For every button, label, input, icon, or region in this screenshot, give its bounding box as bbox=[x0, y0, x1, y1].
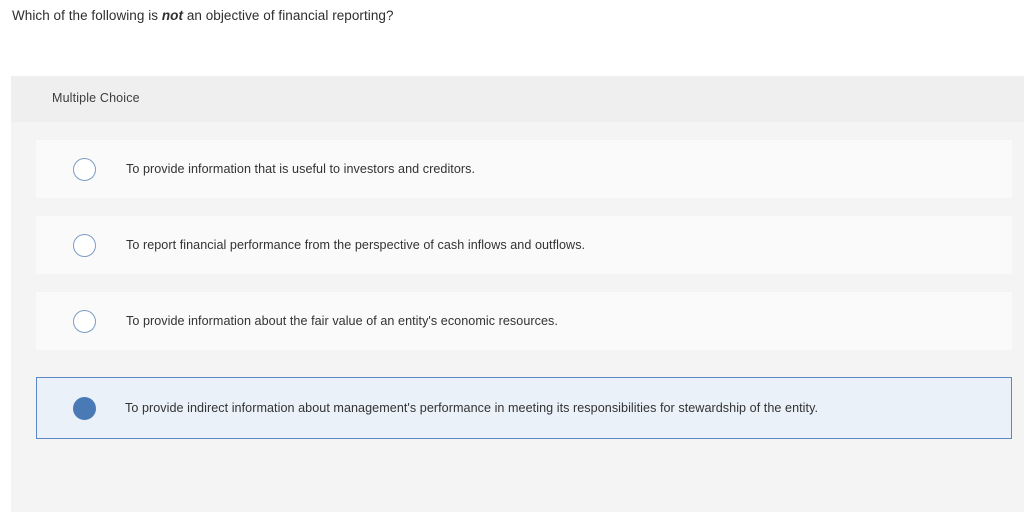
question-text-before: Which of the following is bbox=[12, 8, 162, 23]
answer-option-label-2: To report financial performance from the… bbox=[126, 236, 585, 254]
answer-option-label-4: To provide indirect information about ma… bbox=[125, 399, 818, 417]
question-type-label: Multiple Choice bbox=[52, 91, 140, 105]
answer-option-1[interactable]: To provide information that is useful to… bbox=[36, 140, 1012, 198]
question-emphasis-not: not bbox=[162, 8, 183, 23]
question-stem: Which of the following is not an objecti… bbox=[12, 6, 394, 26]
radio-button-icon-4-selected[interactable] bbox=[73, 397, 96, 420]
answer-option-label-3: To provide information about the fair va… bbox=[126, 312, 558, 330]
answer-options-list: To provide information that is useful to… bbox=[11, 122, 1024, 439]
radio-button-icon-2[interactable] bbox=[73, 234, 96, 257]
radio-button-icon-1[interactable] bbox=[73, 158, 96, 181]
radio-button-icon-3[interactable] bbox=[73, 310, 96, 333]
answer-option-2[interactable]: To report financial performance from the… bbox=[36, 216, 1012, 274]
question-text-after: an objective of financial reporting? bbox=[183, 8, 393, 23]
answer-option-4[interactable]: To provide indirect information about ma… bbox=[36, 377, 1012, 439]
question-card: Multiple Choice To provide information t… bbox=[11, 76, 1024, 512]
answer-option-label-1: To provide information that is useful to… bbox=[126, 160, 475, 178]
answer-option-3[interactable]: To provide information about the fair va… bbox=[36, 292, 1012, 350]
question-card-header: Multiple Choice bbox=[11, 76, 1024, 122]
